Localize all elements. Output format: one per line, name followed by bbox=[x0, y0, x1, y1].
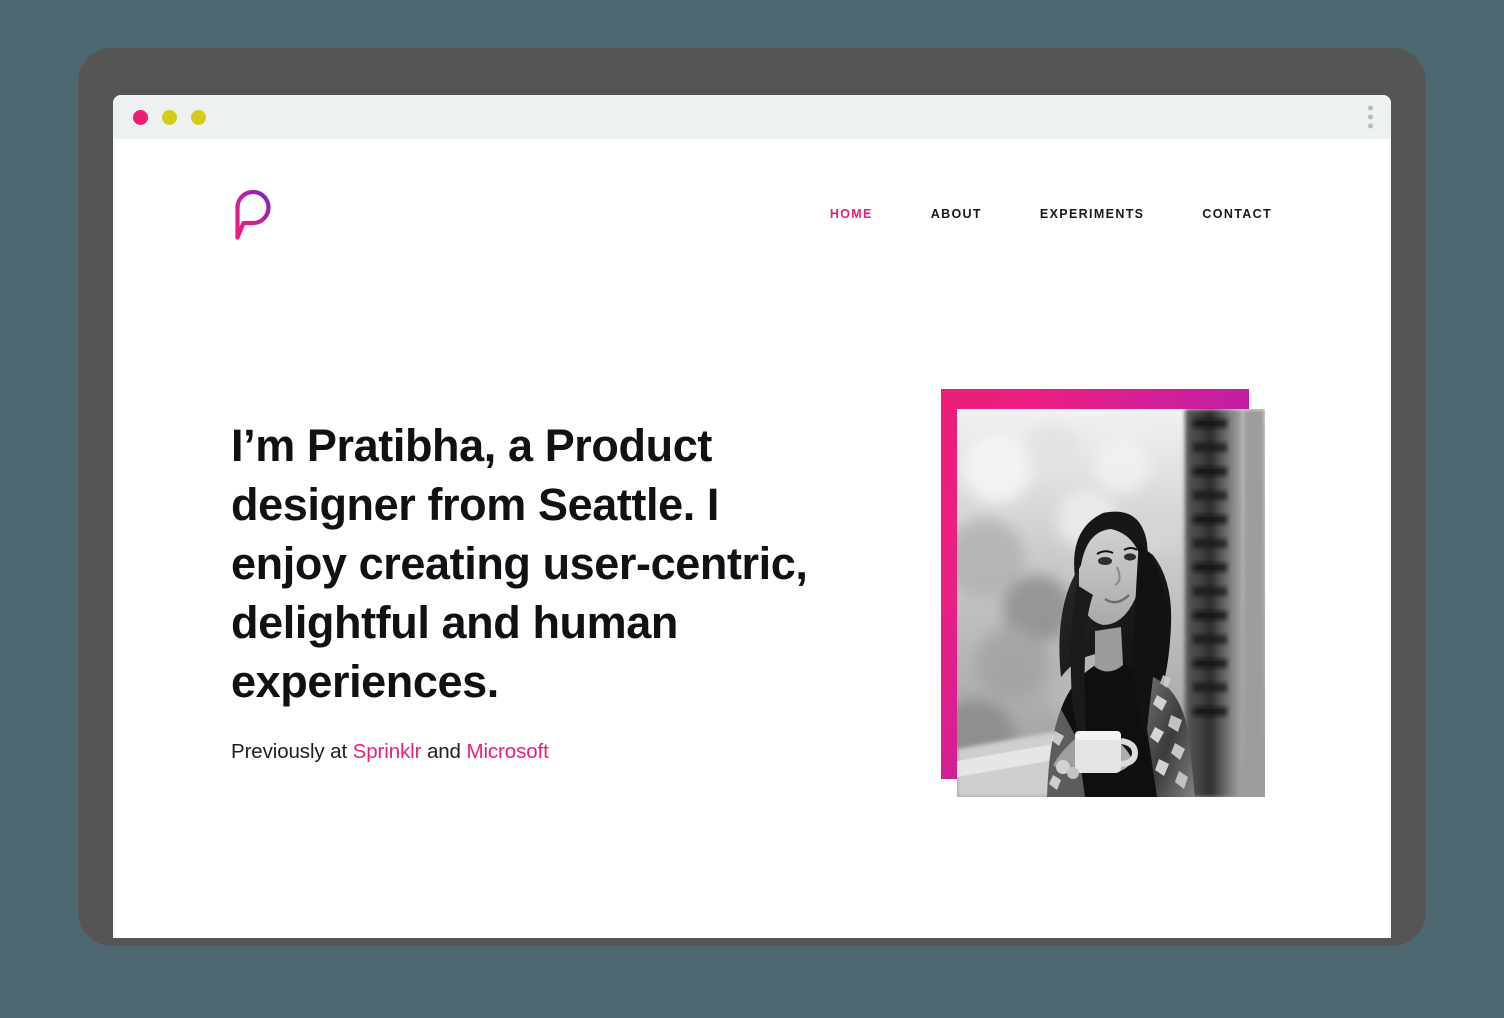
kebab-dot bbox=[1368, 106, 1373, 111]
hero-text-block: I’m Pratibha, a Product designer from Se… bbox=[231, 389, 851, 766]
link-sprinklr[interactable]: Sprinklr bbox=[353, 740, 422, 763]
window-controls bbox=[133, 110, 206, 125]
page-title: I’m Pratibha, a Product designer from Se… bbox=[231, 416, 831, 711]
main-navigation: HOME ABOUT EXPERIMENTS CONTACT bbox=[830, 201, 1272, 227]
previously-at-middle: and bbox=[421, 740, 466, 763]
hero-section: I’m Pratibha, a Product designer from Se… bbox=[231, 389, 1281, 804]
portrait-photo-image bbox=[957, 409, 1265, 797]
page-content: HOME ABOUT EXPERIMENTS CONTACT I’m Prati… bbox=[113, 139, 1391, 938]
browser-titlebar bbox=[113, 95, 1391, 139]
nav-item-home[interactable]: HOME bbox=[830, 201, 873, 227]
pratibha-logo-icon[interactable] bbox=[231, 188, 277, 240]
nav-item-contact[interactable]: CONTACT bbox=[1202, 201, 1272, 227]
previously-at-prefix: Previously at bbox=[231, 740, 353, 763]
kebab-menu-icon[interactable] bbox=[1368, 106, 1373, 129]
nav-item-about[interactable]: ABOUT bbox=[931, 201, 982, 227]
kebab-dot bbox=[1368, 124, 1373, 129]
portrait-photo bbox=[957, 409, 1265, 797]
site-header: HOME ABOUT EXPERIMENTS CONTACT bbox=[113, 139, 1391, 289]
minimize-button[interactable] bbox=[162, 110, 177, 125]
previously-at-line: Previously at Sprinklr and Microsoft bbox=[231, 738, 851, 766]
nav-item-experiments[interactable]: EXPERIMENTS bbox=[1040, 201, 1144, 227]
link-microsoft[interactable]: Microsoft bbox=[466, 740, 548, 763]
maximize-button[interactable] bbox=[191, 110, 206, 125]
kebab-dot bbox=[1368, 115, 1373, 120]
browser-window: HOME ABOUT EXPERIMENTS CONTACT I’m Prati… bbox=[113, 95, 1391, 938]
hero-media-block bbox=[941, 389, 1281, 804]
close-button[interactable] bbox=[133, 110, 148, 125]
